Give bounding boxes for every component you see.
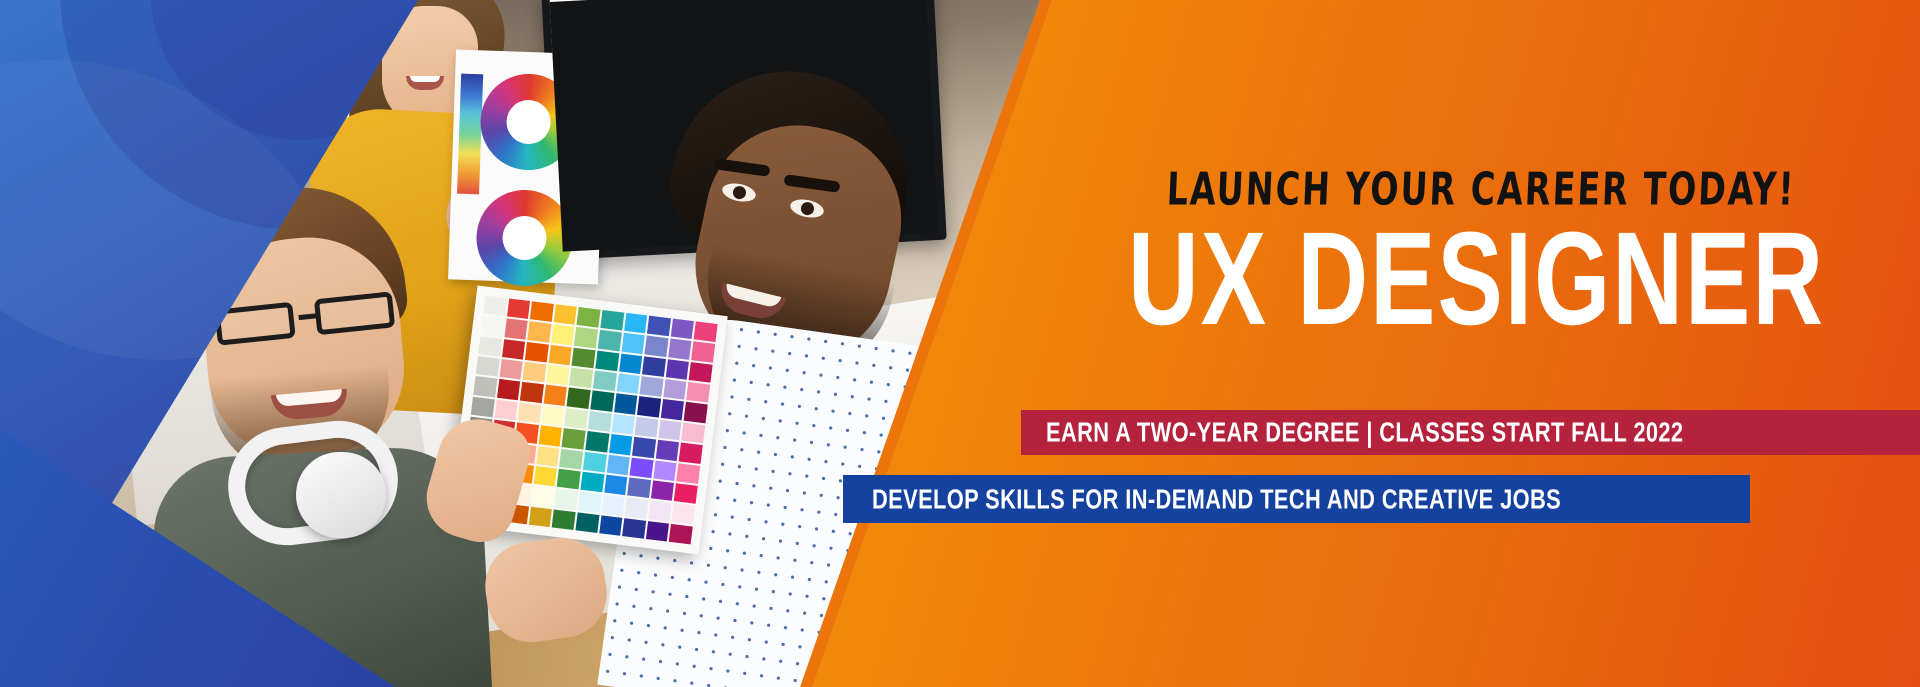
- promotional-banner: LAUNCH YOUR CAREER TODAY! UX DESIGNER EA…: [0, 0, 1920, 687]
- headphones-earcup: [296, 452, 386, 538]
- blue-bar-text: DEVELOP SKILLS FOR IN-DEMAND TECH AND CR…: [872, 483, 1561, 516]
- red-info-bar: EARN A TWO-YEAR DEGREE | CLASSES START F…: [1021, 410, 1920, 455]
- blue-info-bar: DEVELOP SKILLS FOR IN-DEMAND TECH AND CR…: [843, 475, 1750, 523]
- glasses-lens-right: [314, 291, 395, 335]
- red-bar-text: EARN A TWO-YEAR DEGREE | CLASSES START F…: [1046, 416, 1683, 449]
- page-title: UX DESIGNER: [1128, 215, 1920, 345]
- poster-gradient-strip: [457, 74, 483, 195]
